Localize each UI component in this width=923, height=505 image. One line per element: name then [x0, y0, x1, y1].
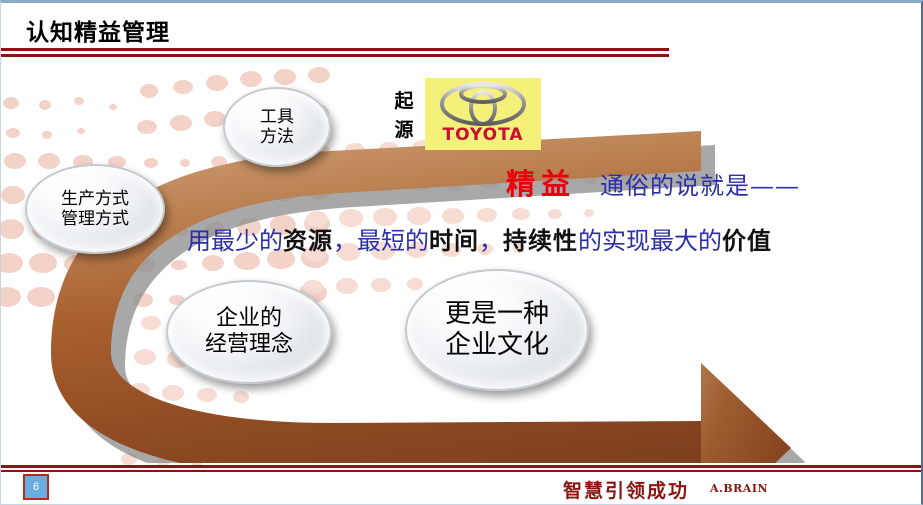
sentence-part-1: 资源 [283, 227, 333, 255]
title-rule-upper [1, 48, 669, 51]
bubble-culture-line2: 企业文化 [445, 330, 549, 361]
lean-definition-sentence: 用最少的资源，最短的时间，持续性的实现最大的价值 [187, 221, 772, 256]
footer-rule-upper [1, 465, 923, 468]
bubble-tools-line2: 方法 [260, 127, 294, 147]
sentence-part-6: 的实现最大的 [578, 227, 722, 255]
toyota-wordmark: TOYOTA [442, 125, 523, 145]
page-number-badge: 6 [23, 474, 49, 500]
sentence-part-0: 用最少的 [187, 227, 283, 255]
bubble-tools-line1: 工具 [260, 107, 294, 127]
lean-heading-row: 精益 通俗的说就是—— [506, 161, 800, 203]
sentence-part-5: 持续性 [503, 227, 578, 255]
footer-brand: A.BRAIN [710, 482, 768, 495]
bubble-prod-line1: 生产方式 [61, 189, 129, 209]
sentence-part-4: ， [479, 227, 503, 255]
slide-canvas: 认知精益管理 工具 方法 生产方式 管理方式 企业的 经营理念 更是一种 企业文… [0, 0, 923, 505]
bubble-concept-line2: 经营理念 [205, 332, 293, 358]
footer-slogan: 智慧引领成功 [563, 476, 689, 503]
sentence-part-7: 价值 [722, 227, 772, 255]
bubble-tools-method[interactable]: 工具 方法 [223, 87, 331, 167]
origin-label-char1: 起 [390, 87, 418, 116]
bubble-culture-line1: 更是一种 [445, 299, 549, 330]
toyota-logo: TOYOTA [425, 78, 541, 150]
title-rule-lower [1, 54, 669, 57]
lean-lead-in: 通俗的说就是—— [600, 166, 800, 201]
bubble-business-concept[interactable]: 企业的 经营理念 [166, 280, 332, 384]
page-title: 认知精益管理 [26, 13, 170, 47]
footer-rule-lower [1, 470, 923, 472]
toyota-emblem-icon [439, 81, 527, 127]
sentence-part-3: 时间 [429, 227, 479, 255]
bubble-prod-line2: 管理方式 [61, 209, 129, 229]
sentence-part-2: ，最短的 [333, 227, 429, 255]
origin-label-char2: 源 [390, 116, 418, 145]
bubble-concept-line1: 企业的 [216, 306, 282, 332]
origin-label: 起 源 [390, 87, 418, 146]
bubble-production-management[interactable]: 生产方式 管理方式 [25, 164, 165, 254]
lean-keyword: 精益 [506, 161, 576, 203]
bubble-corporate-culture[interactable]: 更是一种 企业文化 [405, 269, 589, 391]
